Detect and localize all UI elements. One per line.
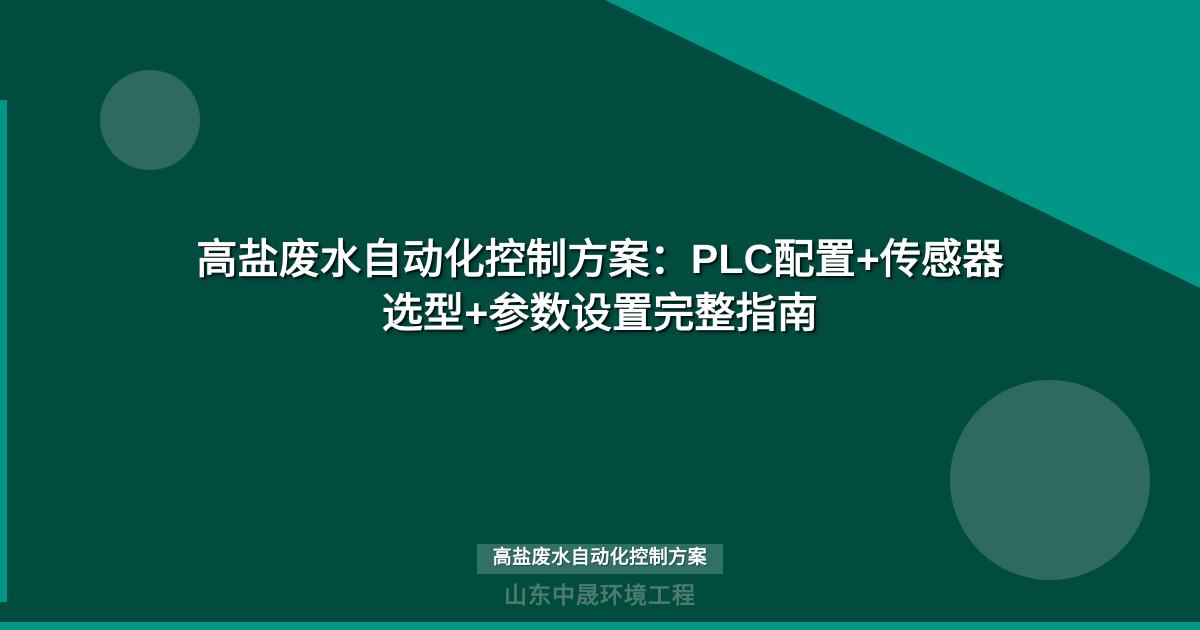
left-accent-bar [0, 100, 7, 602]
topic-badge: 高盐废水自动化控制方案 [477, 544, 724, 574]
cover-image: 高盐废水自动化控制方案：PLC配置+传感器选型+参数设置完整指南 高盐废水自动化… [0, 0, 1200, 630]
decorative-circle-top-left [100, 70, 200, 170]
company-subtitle: 山东中晟环境工程 [504, 583, 696, 608]
bottom-accent-bar [0, 622, 1200, 630]
title-container: 高盐废水自动化控制方案：PLC配置+传感器选型+参数设置完整指南 [0, 232, 1200, 340]
footer-container: 高盐废水自动化控制方案 山东中晟环境工程 [0, 544, 1200, 608]
cover-title: 高盐废水自动化控制方案：PLC配置+传感器选型+参数设置完整指南 [180, 232, 1020, 340]
